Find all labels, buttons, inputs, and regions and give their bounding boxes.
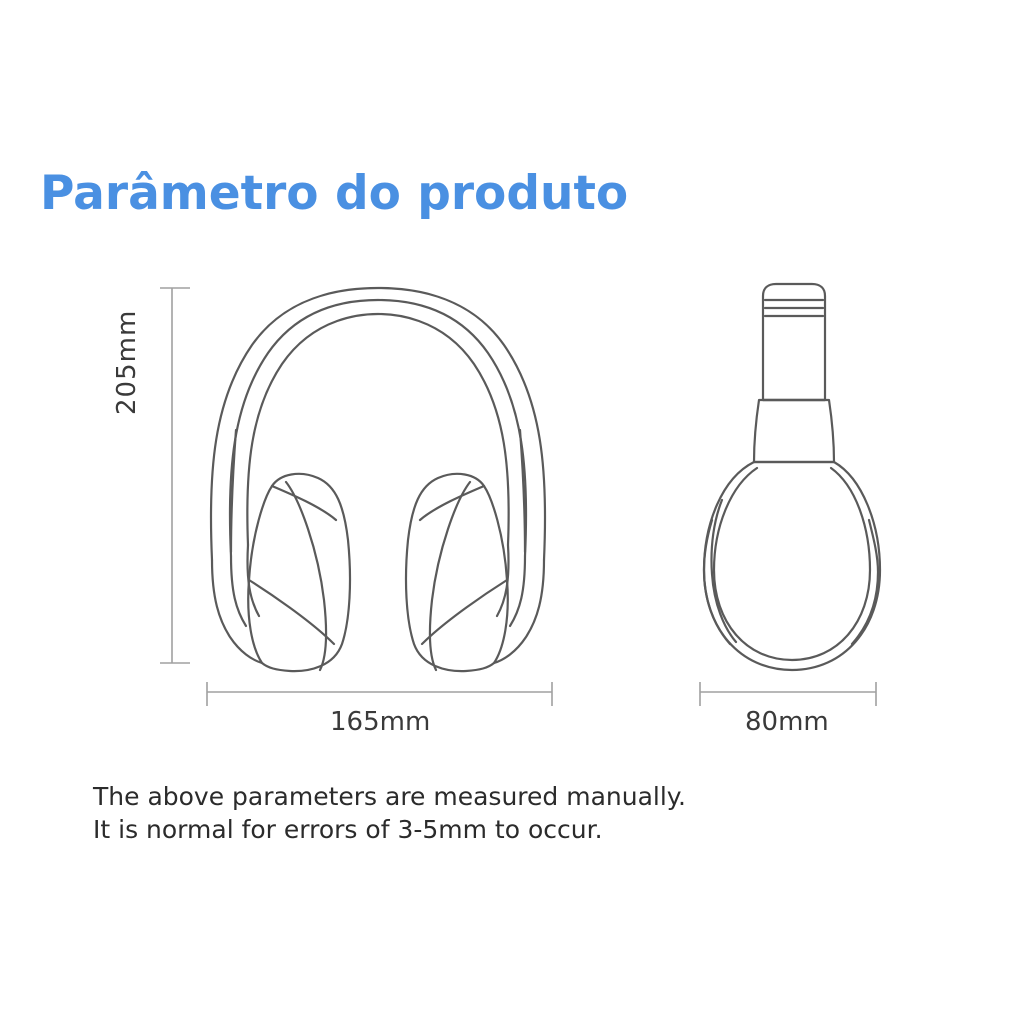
height-dimension-line — [160, 288, 190, 663]
side-view-headband — [754, 284, 834, 462]
front-view-left-earcup — [248, 474, 350, 671]
front-view-headband — [211, 288, 545, 560]
front-width-dimension-label: 165mm — [330, 707, 430, 737]
front-width-dimension-line — [207, 682, 552, 706]
side-width-dimension-line — [700, 682, 876, 706]
side-width-dimension-label: 80mm — [745, 707, 829, 737]
height-dimension-label: 205mm — [112, 310, 142, 415]
measurement-note-line-2: It is normal for errors of 3-5mm to occu… — [93, 815, 603, 844]
front-view-right-earcup — [406, 474, 508, 671]
headphone-dimension-diagram — [0, 0, 1024, 1024]
product-parameter-page: Parâmetro do produto — [0, 0, 1024, 1024]
measurement-note-line-1: The above parameters are measured manual… — [93, 782, 686, 811]
side-view-earcup — [704, 462, 880, 670]
